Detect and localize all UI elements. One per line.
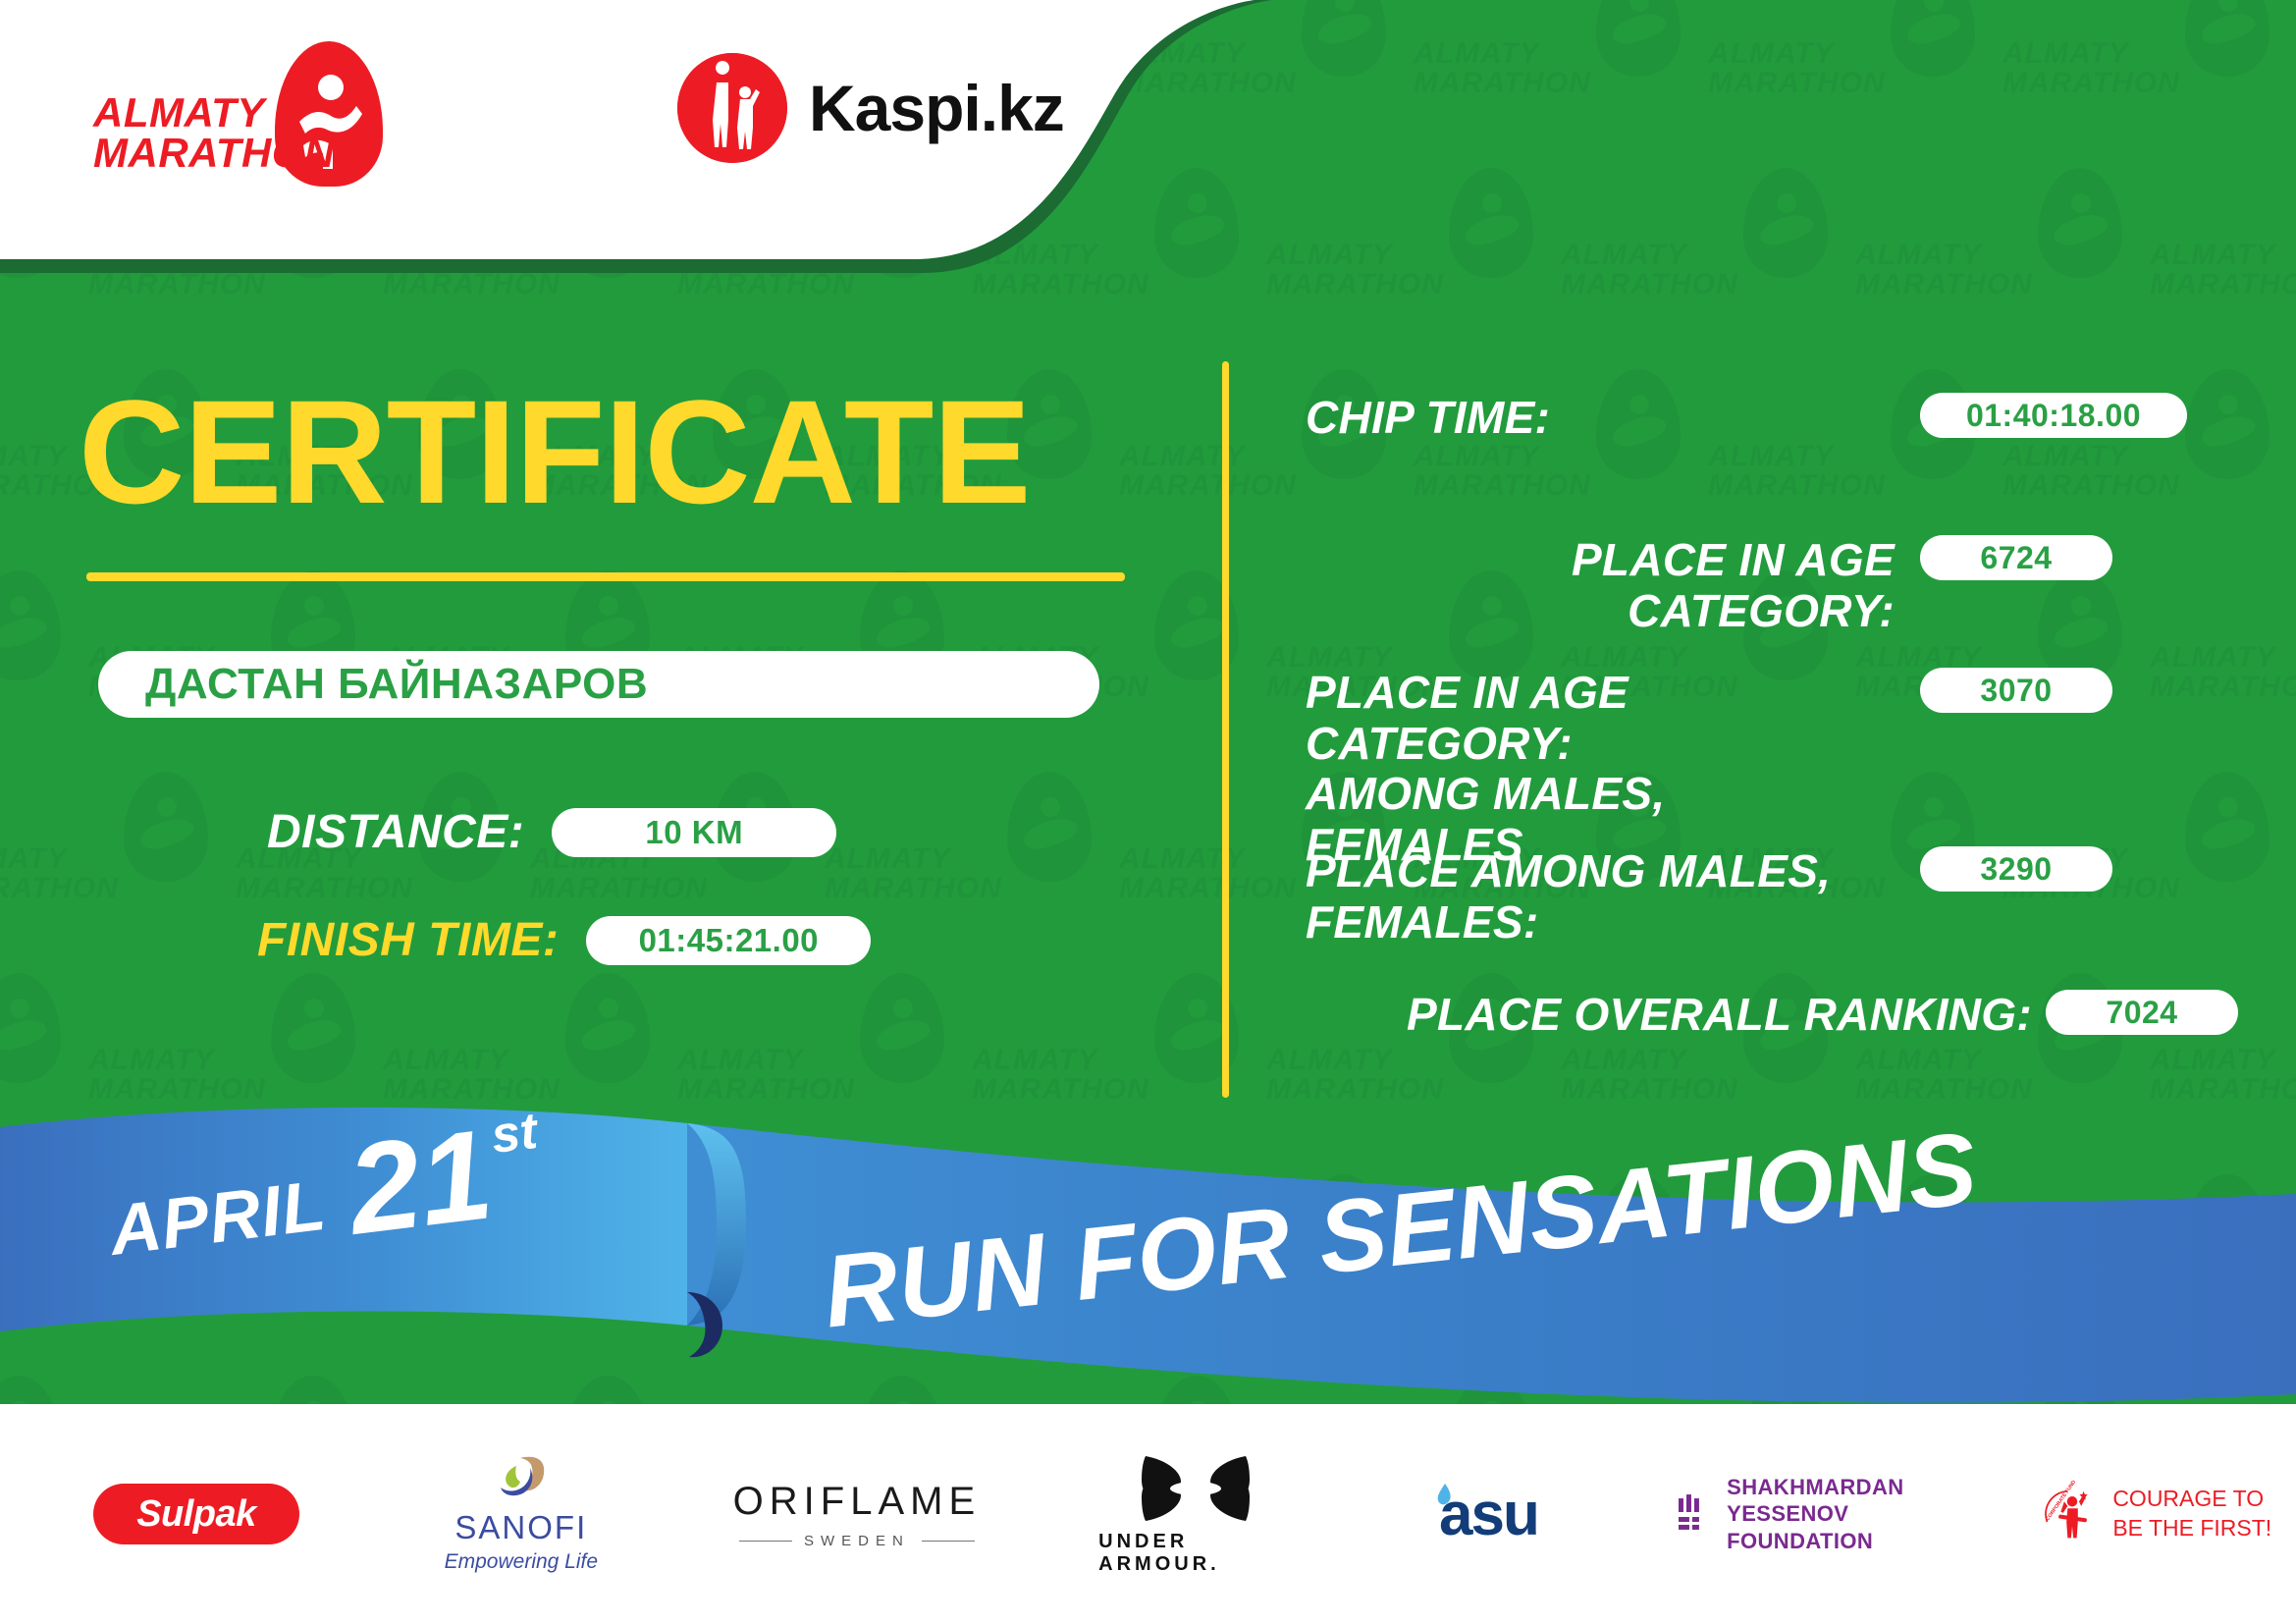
watermark-line-1: ALMATY [1855,239,1982,272]
watermark-line-1: ALMATY [1266,239,1393,272]
watermark-line-1: ALMATY [1708,37,1835,71]
stat-place-among-males-females: PLACE AMONG MALES,FEMALES: 3290 [1306,846,2112,947]
watermark-drop-icon [2185,772,2269,882]
watermark-line-2: MARATHON [1119,872,1297,905]
stat-chip-time: CHIP TIME: 01:40:18.00 [1306,393,2187,444]
watermark-drop-icon [2185,0,2269,77]
finish-time-value: 01:45:21.00 [586,916,871,965]
yessenov-bars-icon [1677,1475,1707,1553]
courage-figure-icon: CORPORATE FUND [2044,1467,2100,1561]
distance-value: 10 KM [552,808,836,857]
sponsor-under-armour: UNDER ARMOUR. [1098,1440,1292,1588]
watermark-drop-icon [1449,168,1533,278]
almaty-marathon-wordmark: ALMATY MARATHON [93,92,335,173]
stat-place-age-category: PLACE IN AGE CATEGORY: 6724 [1306,535,2112,636]
watermark-line-1: ALMATY [1708,440,1835,473]
stat-value: 01:40:18.00 [1920,393,2187,438]
column-divider [1222,361,1229,1098]
sponsor-sulpak: Sulpak [93,1440,299,1588]
watermark-line-1: ALMATY [2002,440,2129,473]
stat-place-age-category-among: PLACE IN AGE CATEGORY:AMONG MALES, FEMAL… [1306,668,2112,870]
watermark-line-1: ALMATY [1414,37,1540,71]
watermark-line-2: MARATHON [1708,469,1886,503]
stat-value: 3070 [1920,668,2112,713]
watermark-drop-icon [1743,168,1828,278]
athlete-name-field: ДАСТАН БАЙНАЗАРОВ [98,651,1099,718]
watermark-line-2: MARATHON [1414,469,1591,503]
watermark-drop-icon [1891,0,1975,77]
watermark-line-1: ALMATY [1561,239,1687,272]
watermark-line-2: MARATHON [1855,268,2033,301]
sponsor-oriflame: ORIFLAME SWEDEN [733,1440,981,1588]
watermark-tile: ALMATYMARATHON [0,565,88,766]
sponsor-sanofi: SANOFI Empowering Life [437,1440,606,1588]
watermark-line-2: MARATHON [972,268,1149,301]
sulpak-wordmark: Sulpak [93,1484,299,1544]
distance-label: DISTANCE: [267,805,524,859]
watermark-line-1: ALMATY [825,842,951,876]
oriflame-rule-left [739,1541,792,1542]
watermark-line-1: ALMATY [0,842,68,876]
watermark-drop-icon [1302,0,1386,77]
oriflame-rule-right [922,1541,975,1542]
watermark-line-2: MARATHON [1561,268,1738,301]
watermark-drop-icon [2038,168,2122,278]
watermark-line-1: ALMATY [2150,239,2276,272]
stat-label: PLACE IN AGE CATEGORY:AMONG MALES, FEMAL… [1306,668,1895,870]
watermark-line-2: MARATHON [2002,67,2180,100]
kaspi-logo: Kaspi.kz [677,51,1064,165]
oriflame-sub: SWEDEN [739,1533,975,1549]
watermark-line-2: MARATHON [1414,67,1591,100]
sponsor-asu: asu [1401,1440,1570,1588]
certificate-root: ALMATYMARATHONALMATYMARATHONALMATYMARATH… [0,0,2296,1624]
logo-line-2: MARATHON [93,133,335,173]
watermark-line-2: MARATHON [1119,469,1297,503]
watermark-line-2: MARATHON [530,872,708,905]
page-title: CERTIFICATE [79,378,1031,525]
watermark-tile: ALMATYMARATHON [2002,0,2296,162]
watermark-drop-icon [565,973,650,1083]
finish-time-row: FINISH TIME: 01:45:21.00 [257,913,871,967]
watermark-line-2: MARATHON [2150,671,2296,704]
stat-label: PLACE OVERALL RANKING: [1306,990,2032,1041]
watermark-drop-icon [0,570,61,680]
finish-time-label: FINISH TIME: [257,913,559,967]
asu-wordmark: asu [1439,1480,1538,1549]
sponsor-courage-to-be-the-first: CORPORATE FUND COURAGE TO BE THE FIRST! [2044,1440,2296,1588]
kaspi-wordmark: Kaspi.kz [809,71,1064,145]
sanofi-wordmark: SANOFI [454,1509,587,1546]
watermark-tile: ALMATYMARATHON [1855,162,2150,363]
yessenov-wordmark: SHAKHMARDAN YESSENOV FOUNDATION [1727,1474,1954,1555]
sponsor-bar: Sulpak SANOFI Empowering Life ORIFLAME S… [0,1404,2296,1624]
oriflame-sub-text: SWEDEN [804,1533,910,1549]
watermark-line-1: ALMATY [1855,1044,1982,1077]
watermark-line-1: ALMATY [2002,37,2129,71]
watermark-line-1: ALMATY [2150,1044,2276,1077]
watermark-tile: ALMATYMARATHON [1414,0,1708,162]
sanofi-icon [487,1454,556,1509]
stat-label: CHIP TIME: [1306,393,1895,444]
kaspi-figures-icon [677,53,787,163]
watermark-tile: ALMATYMARATHON [0,766,236,967]
logo-line-1: ALMATY [93,92,335,133]
distance-row: DISTANCE: 10 KM [267,805,836,859]
watermark-line-2: MARATHON [88,268,266,301]
almaty-marathon-logo: ALMATY MARATHON [93,41,378,174]
watermark-drop-icon [1007,772,1092,882]
stat-value: 6724 [1920,535,2112,580]
stat-label: PLACE AMONG MALES,FEMALES: [1306,846,1895,947]
watermark-line-2: MARATHON [825,872,1002,905]
watermark-drop-icon [1596,0,1681,77]
oriflame-wordmark: ORIFLAME [733,1480,981,1524]
under-armour-icon [1138,1452,1254,1525]
title-underline [86,572,1125,581]
watermark-tile: ALMATYMARATHON [2150,162,2296,363]
watermark-drop-icon [860,973,944,1083]
watermark-tile: ALMATYMARATHON [2150,565,2296,766]
watermark-line-1: ALMATY [2150,641,2276,675]
watermark-line-2: MARATHON [0,872,119,905]
stat-value: 3290 [1920,846,2112,892]
watermark-tile: ALMATYMARATHON [1561,162,1855,363]
event-day: 21 [343,1116,498,1248]
watermark-line-2: MARATHON [2150,268,2296,301]
stat-value: 7024 [2046,990,2238,1035]
watermark-line-1: ALMATY [383,1044,509,1077]
sanofi-tagline: Empowering Life [445,1550,598,1574]
watermark-line-2: MARATHON [2002,469,2180,503]
watermark-line-1: ALMATY [972,1044,1098,1077]
watermark-drop-icon [2185,369,2269,479]
watermark-line-1: ALMATY [88,1044,215,1077]
watermark-drop-icon [124,772,208,882]
stat-label: PLACE IN AGE CATEGORY: [1306,535,1895,636]
watermark-line-1: ALMATY [0,440,68,473]
watermark-line-2: MARATHON [236,872,413,905]
watermark-line-2: MARATHON [383,268,561,301]
watermark-line-2: MARATHON [1266,268,1444,301]
watermark-line-2: MARATHON [677,268,855,301]
watermark-drop-icon [0,973,61,1083]
watermark-line-1: ALMATY [1414,440,1540,473]
stat-place-overall-ranking: PLACE OVERALL RANKING: 7024 [1306,990,2238,1041]
courage-wordmark: COURAGE TO BE THE FIRST! [2112,1485,2296,1543]
watermark-line-2: MARATHON [1708,67,1886,100]
athlete-name-value: ДАСТАН БАЙНАЗАРОВ [145,660,648,709]
watermark-drop-icon [271,973,355,1083]
watermark-line-1: ALMATY [677,1044,804,1077]
watermark-tile: ALMATYMARATHON [1708,0,2002,162]
watermark-line-1: ALMATY [1266,1044,1393,1077]
watermark-line-1: ALMATY [1561,1044,1687,1077]
under-armour-wordmark: UNDER ARMOUR. [1098,1531,1292,1576]
watermark-tile: ALMATYMARATHON [1266,162,1561,363]
sponsor-shakhmardan-yessenov-foundation: SHAKHMARDAN YESSENOV FOUNDATION [1677,1440,1954,1588]
